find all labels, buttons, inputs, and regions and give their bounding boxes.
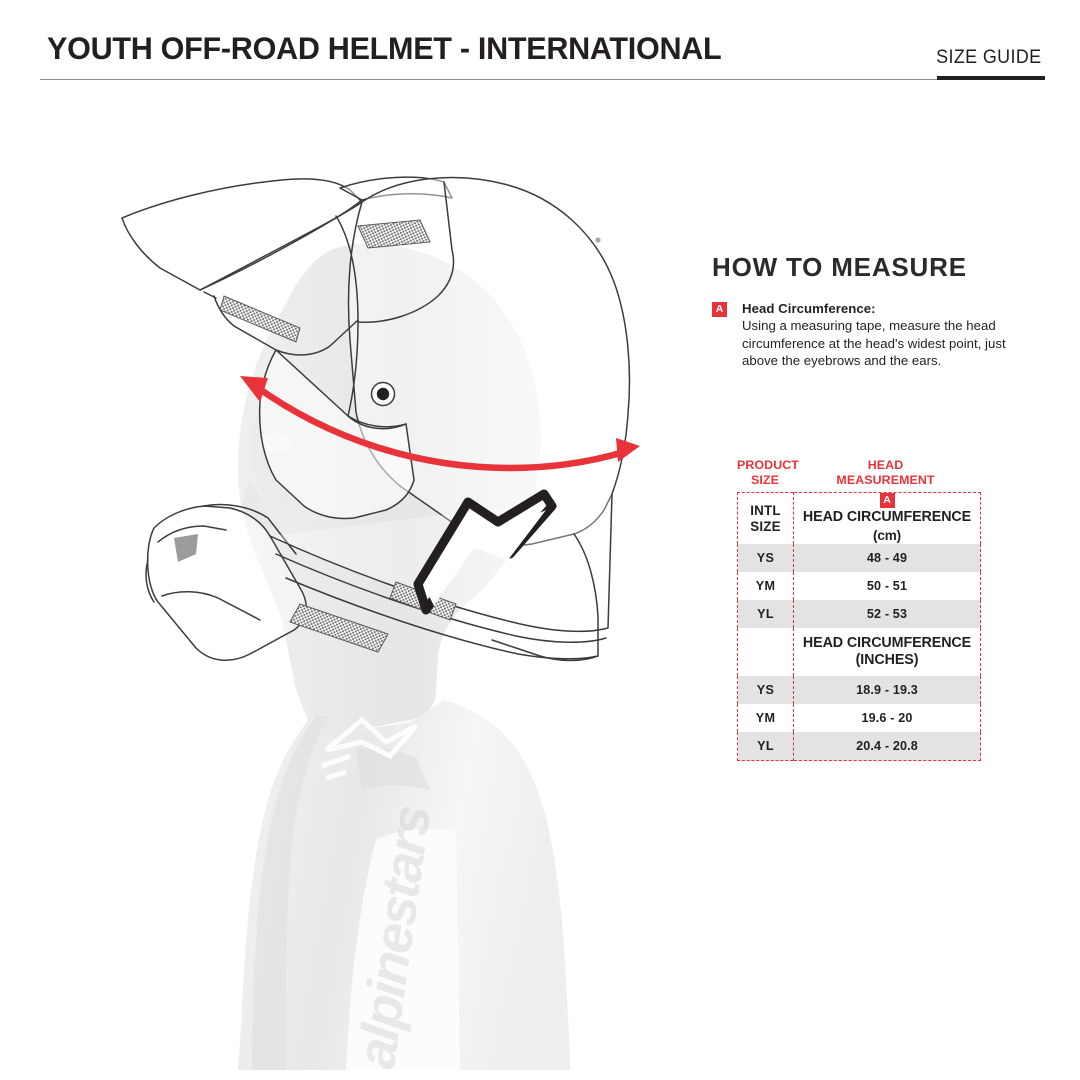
row-size-cell: YL bbox=[738, 732, 794, 761]
table-row: YS 48 - 49 bbox=[738, 544, 981, 572]
table-row: YM 19.6 - 20 bbox=[738, 704, 981, 732]
column-header-head-measurement-line1: HEAD bbox=[793, 458, 978, 473]
row-size-cell: YS bbox=[738, 544, 794, 572]
row-value-cell: 50 - 51 bbox=[794, 572, 981, 600]
arrow-head-right bbox=[616, 438, 640, 462]
table-badge-a: A bbox=[880, 493, 895, 508]
column-header-head-measurement: HEAD MEASUREMENT bbox=[793, 458, 978, 487]
row-size-cell: YL bbox=[738, 600, 794, 628]
intl-size-label-line1: INTL bbox=[738, 503, 793, 519]
size-chart-column-headers: PRODUCT SIZE HEAD MEASUREMENT bbox=[737, 458, 978, 492]
column-header-head-measurement-line2: MEASUREMENT bbox=[793, 473, 978, 488]
size-guide-underline bbox=[937, 76, 1045, 80]
size-chart-table: INTL SIZE A HEAD CIRCUMFERENCE (cm) YS 4… bbox=[737, 492, 981, 761]
ghost-jersey: alpinestars bbox=[238, 700, 570, 1070]
measure-item-head-circumference: A Head Circumference: Using a measuring … bbox=[712, 300, 1042, 370]
column-header-product-size: PRODUCT SIZE bbox=[737, 458, 793, 487]
head-circumference-inches-title: HEAD CIRCUMFERENCE bbox=[794, 635, 980, 653]
page-header: YOUTH OFF-ROAD HELMET - INTERNATIONAL SI… bbox=[0, 0, 1080, 92]
visor-pivot-screw bbox=[372, 383, 395, 406]
row-value-cell: 20.4 - 20.8 bbox=[794, 732, 981, 761]
measure-item-label: Head Circumference: bbox=[742, 300, 1042, 317]
table-subheader-row-inches: HEAD CIRCUMFERENCE (INCHES) bbox=[738, 628, 981, 676]
column-header-product-size-line1: PRODUCT bbox=[737, 458, 793, 473]
intl-size-label-line2: SIZE bbox=[738, 519, 793, 535]
row-value-cell: 48 - 49 bbox=[794, 544, 981, 572]
table-row: YL 52 - 53 bbox=[738, 600, 981, 628]
intl-size-empty-cell bbox=[738, 628, 794, 676]
row-value-cell: 19.6 - 20 bbox=[794, 704, 981, 732]
page-title: YOUTH OFF-ROAD HELMET - INTERNATIONAL bbox=[47, 30, 721, 67]
row-size-cell: YM bbox=[738, 704, 794, 732]
head-circumference-cm-unit: (cm) bbox=[794, 527, 980, 545]
measure-badge-a: A bbox=[712, 302, 727, 317]
row-value-cell: 18.9 - 19.3 bbox=[794, 676, 981, 704]
row-size-cell: YS bbox=[738, 676, 794, 704]
intl-size-label-cell: INTL SIZE bbox=[738, 493, 794, 545]
header-divider bbox=[40, 79, 1040, 80]
row-value-cell: 52 - 53 bbox=[794, 600, 981, 628]
measure-item-description: Using a measuring tape, measure the head… bbox=[742, 317, 1042, 370]
table-subheader-row-cm: INTL SIZE A HEAD CIRCUMFERENCE (cm) bbox=[738, 493, 981, 545]
row-size-cell: YM bbox=[738, 572, 794, 600]
head-circumference-inches-unit: (INCHES) bbox=[794, 652, 980, 670]
head-circumference-inches-header-cell: HEAD CIRCUMFERENCE (INCHES) bbox=[794, 628, 981, 676]
size-chart: PRODUCT SIZE HEAD MEASUREMENT INTL SIZE … bbox=[737, 458, 978, 761]
head-circumference-cm-title: HEAD CIRCUMFERENCE bbox=[794, 509, 980, 527]
how-to-measure-heading: HOW TO MEASURE bbox=[712, 252, 1042, 283]
how-to-measure-section: HOW TO MEASURE A Head Circumference: Usi… bbox=[712, 252, 1042, 370]
table-row: YL 20.4 - 20.8 bbox=[738, 732, 981, 761]
size-guide-label: SIZE GUIDE bbox=[937, 46, 1042, 69]
table-row: YS 18.9 - 19.3 bbox=[738, 676, 981, 704]
table-row: YM 50 - 51 bbox=[738, 572, 981, 600]
helmet-illustration: alpinestars bbox=[100, 150, 720, 1070]
column-header-product-size-line2: SIZE bbox=[737, 473, 793, 488]
head-circumference-cm-header-cell: A HEAD CIRCUMFERENCE (cm) bbox=[794, 493, 981, 545]
